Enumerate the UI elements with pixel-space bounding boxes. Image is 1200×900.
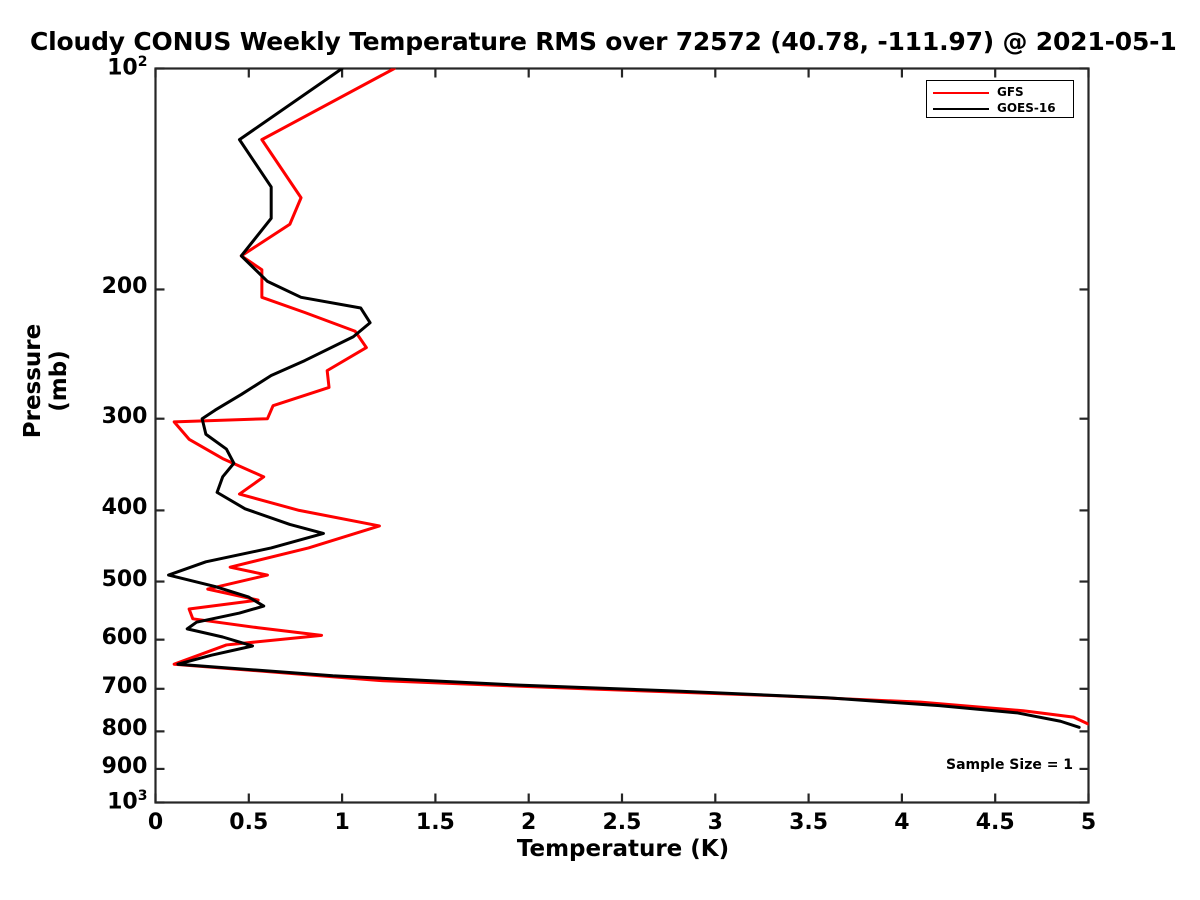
data-series [169, 69, 1089, 728]
legend-label-goes16: GOES-16 [997, 102, 1056, 114]
x-tick-label: 5 [1044, 810, 1134, 835]
x-axis-label: Temperature (K) [453, 836, 793, 862]
y-tick-label: 300 [102, 404, 148, 429]
x-tick-label: 0.5 [204, 810, 294, 835]
legend: GFS GOES-16 [926, 80, 1074, 118]
series-line-gfs [174, 69, 1088, 725]
x-tick-label: 2.5 [577, 810, 667, 835]
legend-swatch-goes16 [933, 108, 989, 110]
legend-label-gfs: GFS [997, 86, 1024, 98]
x-tick-label: 3.5 [764, 810, 854, 835]
legend-swatch-gfs [933, 92, 989, 94]
y-tick-label: 500 [102, 567, 148, 592]
y-tick-label: 400 [102, 495, 148, 520]
y-tick-label: 102 [107, 54, 147, 80]
y-tick-label: 600 [102, 625, 148, 650]
x-tick-label: 3 [670, 810, 760, 835]
axes-frame [156, 69, 1089, 803]
legend-item-1: GOES-16 [927, 100, 1073, 117]
axis-ticks [156, 69, 1089, 803]
legend-item-0: GFS [927, 84, 1073, 101]
x-tick-label: 1.5 [390, 810, 480, 835]
sample-size-annotation: Sample Size = 1 [946, 757, 1073, 773]
figure-container: Cloudy CONUS Weekly Temperature RMS over… [0, 0, 1200, 900]
y-axis-label: Pressure (mb) [20, 301, 72, 461]
y-tick-label: 200 [102, 274, 148, 299]
x-tick-label: 4 [857, 810, 947, 835]
x-tick-label: 1 [297, 810, 387, 835]
y-tick-label: 900 [102, 754, 148, 779]
x-tick-label: 4.5 [950, 810, 1040, 835]
x-tick-label: 0 [111, 810, 201, 835]
y-tick-label: 800 [102, 716, 148, 741]
series-line-goes-16 [169, 69, 1080, 728]
y-tick-label: 700 [102, 674, 148, 699]
x-tick-label: 2 [484, 810, 574, 835]
